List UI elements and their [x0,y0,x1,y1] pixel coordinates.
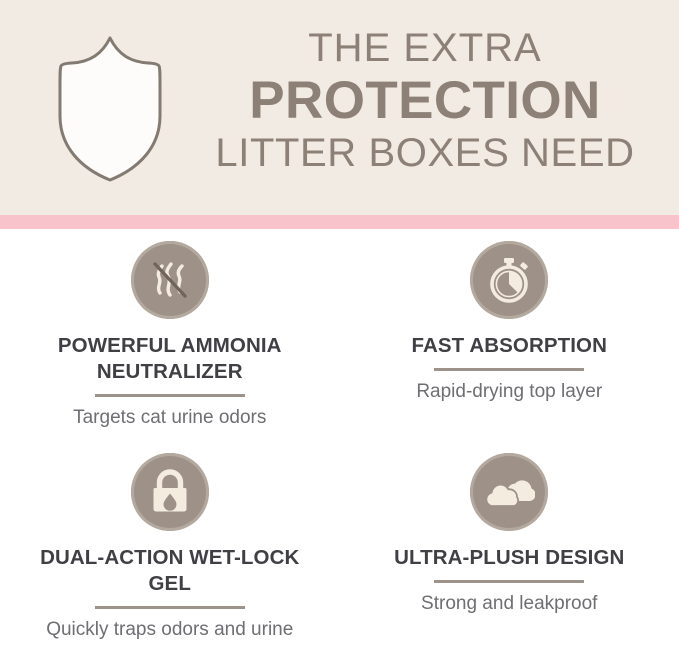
infographic-page: THE EXTRA PROTECTION LITTER BOXES NEED P… [0,0,679,653]
title-line-1: THE EXTRA [182,28,668,68]
feature-heading: POWERFUL AMMONIA NEUTRALIZER [20,333,320,385]
title-line-2: PROTECTION [182,74,668,127]
heading-rule [434,368,584,371]
feature-description: Rapid-drying top layer [416,381,602,404]
feature-heading: FAST ABSORPTION [412,333,608,359]
feature-heading: ULTRA-PLUSH DESIGN [394,545,624,571]
feature-description: Quickly traps odors and urine [46,619,293,642]
feature-grid: POWERFUL AMMONIA NEUTRALIZER Targets cat… [0,229,679,653]
feature-heading: DUAL-ACTION WET-LOCK GEL [20,545,320,597]
feature-card-ammonia-neutralizer: POWERFUL AMMONIA NEUTRALIZER Targets cat… [0,229,340,441]
stopwatch-icon [470,241,548,319]
feature-description: Targets cat urine odors [73,407,266,430]
header-banner: THE EXTRA PROTECTION LITTER BOXES NEED [0,0,679,215]
feature-card-fast-absorption: FAST ABSORPTION Rapid-drying top layer [340,229,679,441]
heading-rule [95,606,245,609]
title-line-3: LITTER BOXES NEED [182,133,668,173]
feature-card-wet-lock-gel: DUAL-ACTION WET-LOCK GEL Quickly traps o… [0,441,340,653]
no-odor-icon [131,241,209,319]
heading-rule [95,394,245,397]
feature-description: Strong and leakproof [421,593,597,616]
shield-icon [52,30,168,186]
heading-rule [434,580,584,583]
page-title: THE EXTRA PROTECTION LITTER BOXES NEED [182,28,668,173]
clouds-icon [470,453,548,531]
lock-droplet-icon [131,453,209,531]
feature-card-ultra-plush: ULTRA-PLUSH DESIGN Strong and leakproof [340,441,679,653]
pink-divider-strip [0,215,679,229]
